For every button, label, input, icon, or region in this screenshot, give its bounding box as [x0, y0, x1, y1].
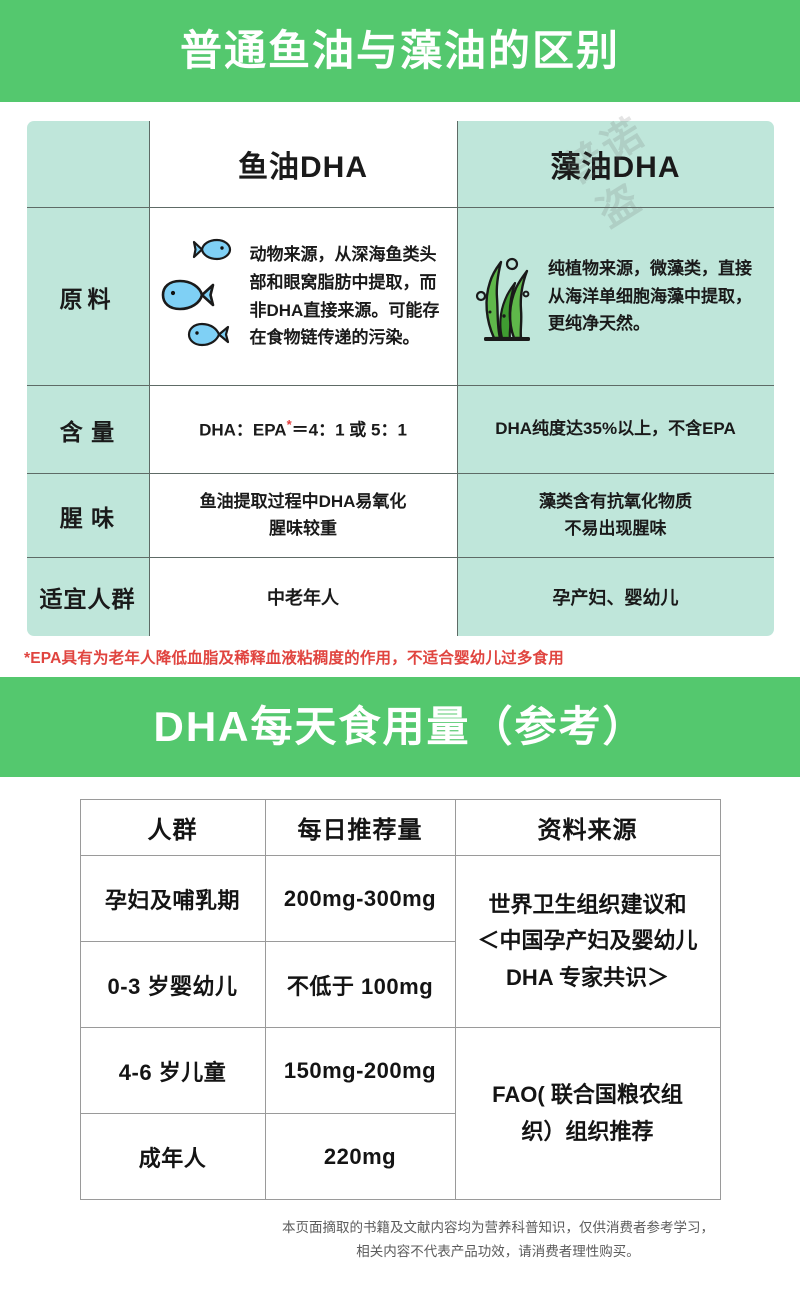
table-row-origin: 原料: [25, 208, 775, 386]
cell-content-algae-text: DHA纯度达35%以上，不含EPA: [468, 416, 764, 442]
dosage-banner: DHA每天食用量（参考）: [0, 677, 800, 777]
row-label-origin-text: 原料: [37, 280, 139, 314]
page-disclaimer: 本页面摘取的书籍及文献内容均为营养科普知识，仅供消费者参考学习， 相关内容不代表…: [238, 1216, 758, 1263]
dosage-cell-source-fao: FAO( 联合国粮农组 织）组织推荐: [455, 1028, 720, 1200]
dosage-amount-text: 不低于 100mg: [287, 974, 433, 999]
disclaimer-line-2: 相关内容不代表产品功效，请消费者理性购买。: [238, 1240, 758, 1264]
cell-origin-fish-text: 动物来源，从深海鱼类头部和眼窝脂肪中提取，而非DHA直接来源。可能存在食物链传递…: [250, 241, 447, 351]
cell-people-fish-text: 中老年人: [160, 584, 447, 610]
comparison-header-fish-label: 鱼油DHA: [238, 151, 368, 184]
dosage-cell-group: 成年人: [80, 1114, 265, 1200]
table-row: 4-6 岁儿童 150mg-200mg FAO( 联合国粮农组 织）组织推荐: [80, 1028, 720, 1114]
cell-origin-fish: 动物来源，从深海鱼类头部和眼窝脂肪中提取，而非DHA直接来源。可能存在食物链传递…: [149, 208, 457, 386]
dosage-group-text: 4-6 岁儿童: [119, 1060, 226, 1085]
comparison-header-fish: 鱼油DHA: [149, 120, 457, 208]
table-row-content: 含 量 DHA：EPA*＝4：1 或 5：1 DHA纯度达35%以上，不含EPA: [25, 386, 775, 474]
dosage-header-group: 人群: [80, 800, 265, 856]
dosage-amount-text: 150mg-200mg: [284, 1058, 436, 1083]
cell-content-fish: DHA：EPA*＝4：1 或 5：1: [149, 386, 457, 474]
cell-smell-fish-line-2: 腥味较重: [160, 516, 447, 542]
dosage-table: 人群 每日推荐量 资料来源 孕妇及哺乳期 200mg-300mg 世界卫生组织建…: [80, 799, 721, 1200]
dosage-cell-amount: 150mg-200mg: [265, 1028, 455, 1114]
dosage-source-who-line-1: 世界卫生组织建议和: [457, 887, 719, 923]
dosage-source-fao-line-1: FAO( 联合国粮农组: [457, 1077, 719, 1113]
dosage-header-amount-label: 每日推荐量: [298, 817, 423, 844]
dosage-cell-group: 孕妇及哺乳期: [80, 856, 265, 942]
disclaimer-line-1: 本页面摘取的书籍及文献内容均为营养科普知识，仅供消费者参考学习，: [238, 1216, 758, 1240]
cell-people-algae-text: 孕产妇、婴幼儿: [468, 584, 764, 610]
dosage-amount-text: 220mg: [324, 1144, 396, 1169]
epa-footnote: *EPA具有为老年人降低血脂及稀释血液粘稠度的作用，不适合婴幼儿过多食用: [24, 649, 776, 669]
cell-content-algae: DHA纯度达35%以上，不含EPA: [457, 386, 775, 474]
cell-smell-fish: 鱼油提取过程中DHA易氧化 腥味较重: [149, 474, 457, 558]
dosage-cell-source-who: 世界卫生组织建议和 ＜中国孕产妇及婴幼儿 DHA 专家共识＞: [455, 856, 720, 1028]
fish-icon-small-top: [192, 236, 232, 263]
dosage-source-who-line-3: DHA 专家共识＞: [457, 960, 719, 996]
row-label-content: 含 量: [25, 386, 149, 474]
dosage-group-text: 孕妇及哺乳期: [105, 888, 240, 913]
dosage-cell-amount: 200mg-300mg: [265, 856, 455, 942]
fish-icon-large-middle: [160, 276, 216, 314]
seaweed-icon: [468, 242, 542, 352]
cell-smell-fish-line-1: 鱼油提取过程中DHA易氧化: [160, 489, 447, 515]
comparison-table: 鱼油DHA 藻油DHA 原料: [24, 118, 777, 639]
table-row: 孕妇及哺乳期 200mg-300mg 世界卫生组织建议和 ＜中国孕产妇及婴幼儿 …: [80, 856, 720, 942]
fish-icon-small-bottom: [186, 320, 230, 349]
comparison-header-algae-label: 藻油DHA: [551, 151, 681, 184]
dosage-header-source: 资料来源: [455, 800, 720, 856]
dosage-cell-amount: 不低于 100mg: [265, 942, 455, 1028]
cell-people-algae: 孕产妇、婴幼儿: [457, 558, 775, 638]
dosage-source-fao-line-2: 织）组织推荐: [457, 1114, 719, 1150]
row-label-people: 适宜人群: [25, 558, 149, 638]
cell-origin-algae: 纯植物来源，微藻类，直接从海洋单细胞海藻中提取，更纯净天然。: [457, 208, 775, 386]
cell-origin-algae-text: 纯植物来源，微藻类，直接从海洋单细胞海藻中提取，更纯净天然。: [548, 255, 763, 338]
dosage-group-text: 0-3 岁婴幼儿: [108, 974, 238, 999]
dosage-cell-group: 0-3 岁婴幼儿: [80, 942, 265, 1028]
comparison-header-blank: [25, 120, 149, 208]
row-label-content-text: 含 量: [37, 413, 139, 447]
dosage-section: 人群 每日推荐量 资料来源 孕妇及哺乳期 200mg-300mg 世界卫生组织建…: [0, 777, 800, 1200]
comparison-header-row: 鱼油DHA 藻油DHA: [25, 120, 775, 208]
dosage-cell-amount: 220mg: [265, 1114, 455, 1200]
table-row-smell: 腥 味 鱼油提取过程中DHA易氧化 腥味较重 藻类含有抗氧化物质 不易出现腥味: [25, 474, 775, 558]
dosage-amount-text: 200mg-300mg: [284, 886, 436, 911]
cell-content-fish-suffix: ＝4：1 或 5：1: [292, 421, 407, 440]
seaweed-icon-art: [468, 242, 542, 352]
fish-icon: [160, 234, 244, 360]
comparison-section: 鱼油DHA 藻油DHA 原料: [0, 102, 800, 669]
dosage-group-text: 成年人: [139, 1146, 207, 1171]
dosage-header-amount: 每日推荐量: [265, 800, 455, 856]
cell-smell-algae: 藻类含有抗氧化物质 不易出现腥味: [457, 474, 775, 558]
table-row-people: 适宜人群 中老年人 孕产妇、婴幼儿: [25, 558, 775, 638]
dosage-source-who-line-2: ＜中国孕产妇及婴幼儿: [457, 923, 719, 959]
cell-people-fish: 中老年人: [149, 558, 457, 638]
cell-content-fish-text: DHA：EPA*＝4：1 或 5：1: [160, 415, 447, 444]
row-label-smell-text: 腥 味: [37, 499, 139, 533]
row-label-smell: 腥 味: [25, 474, 149, 558]
dosage-cell-group: 4-6 岁儿童: [80, 1028, 265, 1114]
dosage-header-source-label: 资料来源: [538, 817, 638, 844]
comparison-header-algae: 藻油DHA: [457, 120, 775, 208]
row-label-origin: 原料: [25, 208, 149, 386]
comparison-banner: 普通鱼油与藻油的区别: [0, 0, 800, 102]
dosage-header-group-label: 人群: [148, 817, 198, 844]
dosage-banner-title: DHA每天食用量（参考）: [154, 706, 647, 748]
dosage-header-row: 人群 每日推荐量 资料来源: [80, 800, 720, 856]
cell-smell-algae-line-1: 藻类含有抗氧化物质: [468, 489, 764, 515]
cell-smell-algae-line-2: 不易出现腥味: [468, 516, 764, 542]
cell-content-fish-prefix: DHA：EPA: [199, 421, 287, 440]
row-label-people-text: 适宜人群: [37, 580, 139, 614]
comparison-banner-title: 普通鱼油与藻油的区别: [180, 30, 620, 72]
